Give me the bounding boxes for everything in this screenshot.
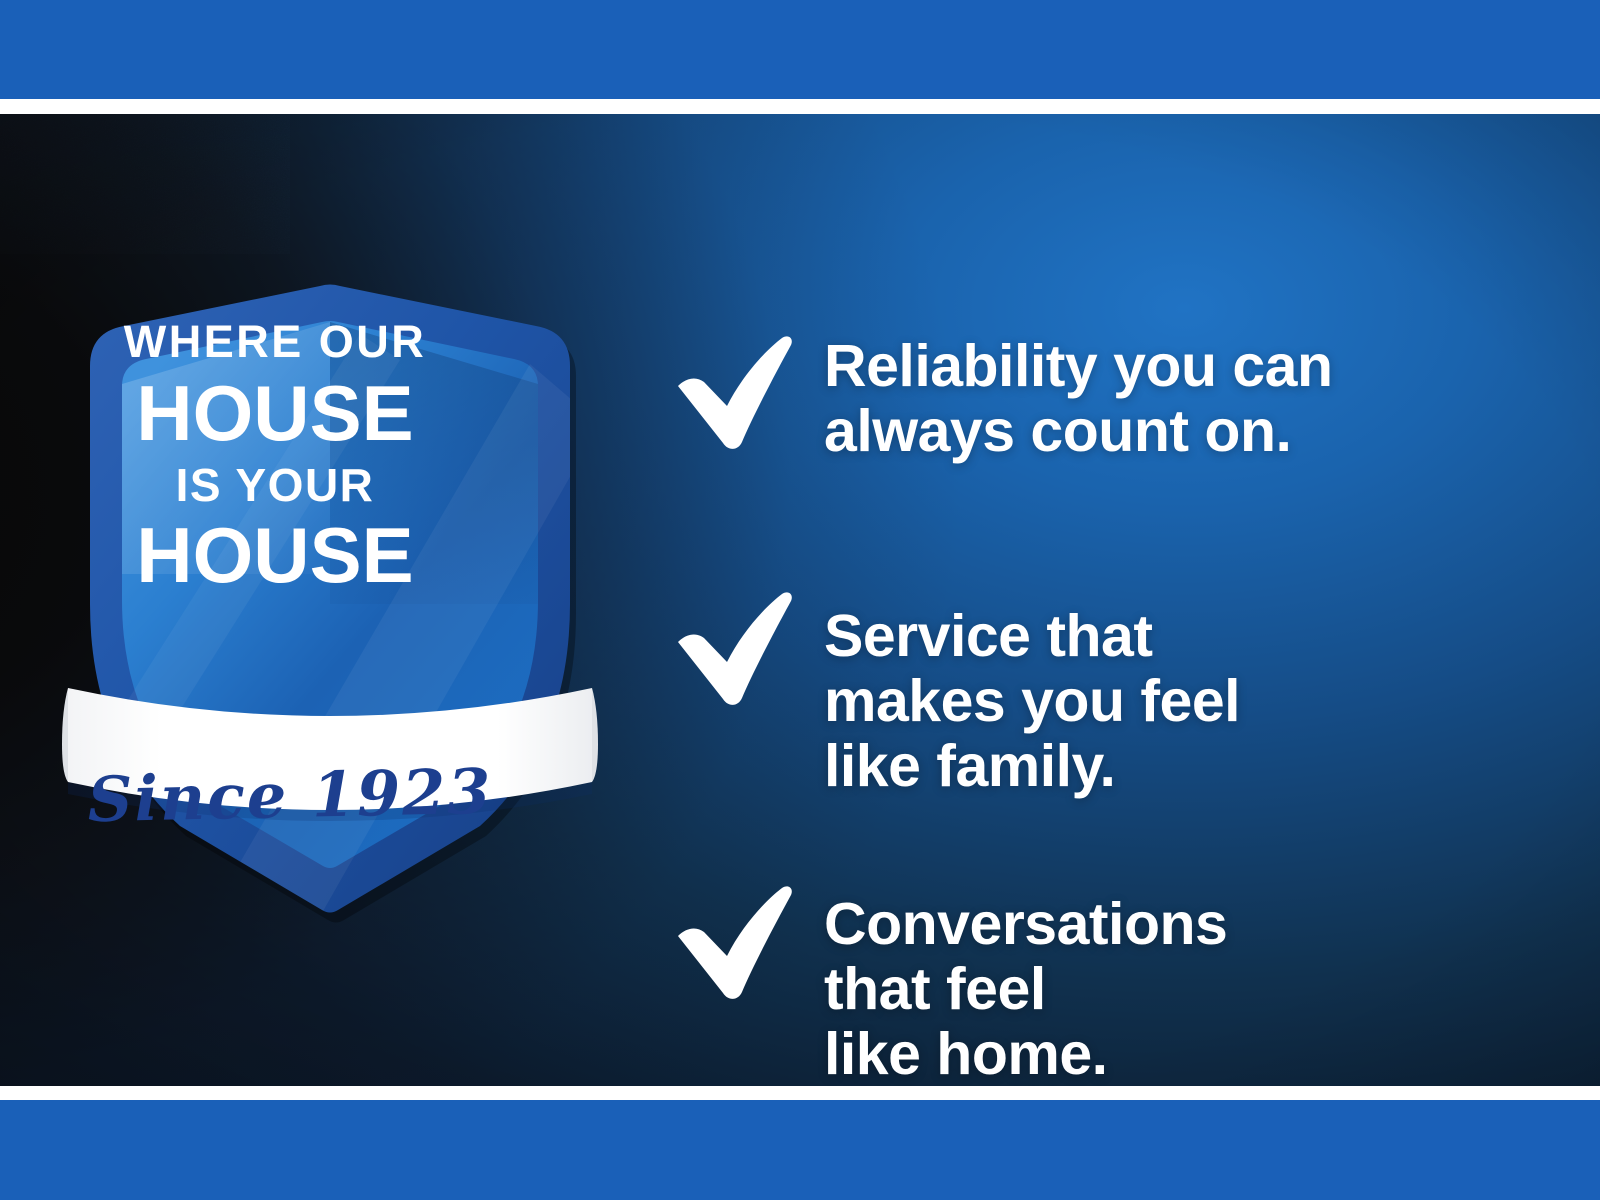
bottom-divider — [0, 1086, 1600, 1100]
top-brand-bar — [0, 0, 1600, 99]
benefit-item-1: Reliability you can always count on. — [670, 330, 1333, 464]
promo-poster: WHERE OUR HOUSE IS YOUR HOUSE Since 1923… — [0, 0, 1600, 1200]
benefit-item-2: Service that makes you feel like family. — [670, 586, 1240, 799]
bottom-brand-bar — [0, 1100, 1600, 1200]
benefit-item-3: Conversations that feel like home. — [670, 880, 1227, 1086]
benefit-text-3: Conversations that feel like home. — [824, 880, 1227, 1086]
checkmark-icon — [670, 588, 796, 708]
shield-badge — [60, 274, 600, 914]
benefits-list: Reliability you can always count on. Ser… — [660, 228, 1480, 1086]
benefit-text-1: Reliability you can always count on. — [824, 330, 1333, 464]
benefit-text-2: Service that makes you feel like family. — [824, 586, 1240, 799]
top-divider — [0, 99, 1600, 114]
background-grain-texture — [0, 114, 290, 254]
ribbon-fold-right — [592, 688, 598, 782]
checkmark-icon — [670, 882, 796, 1002]
ribbon-fold-left — [62, 688, 68, 782]
checkmark-icon — [670, 332, 796, 452]
poster-stage: WHERE OUR HOUSE IS YOUR HOUSE Since 1923… — [0, 114, 1600, 1086]
